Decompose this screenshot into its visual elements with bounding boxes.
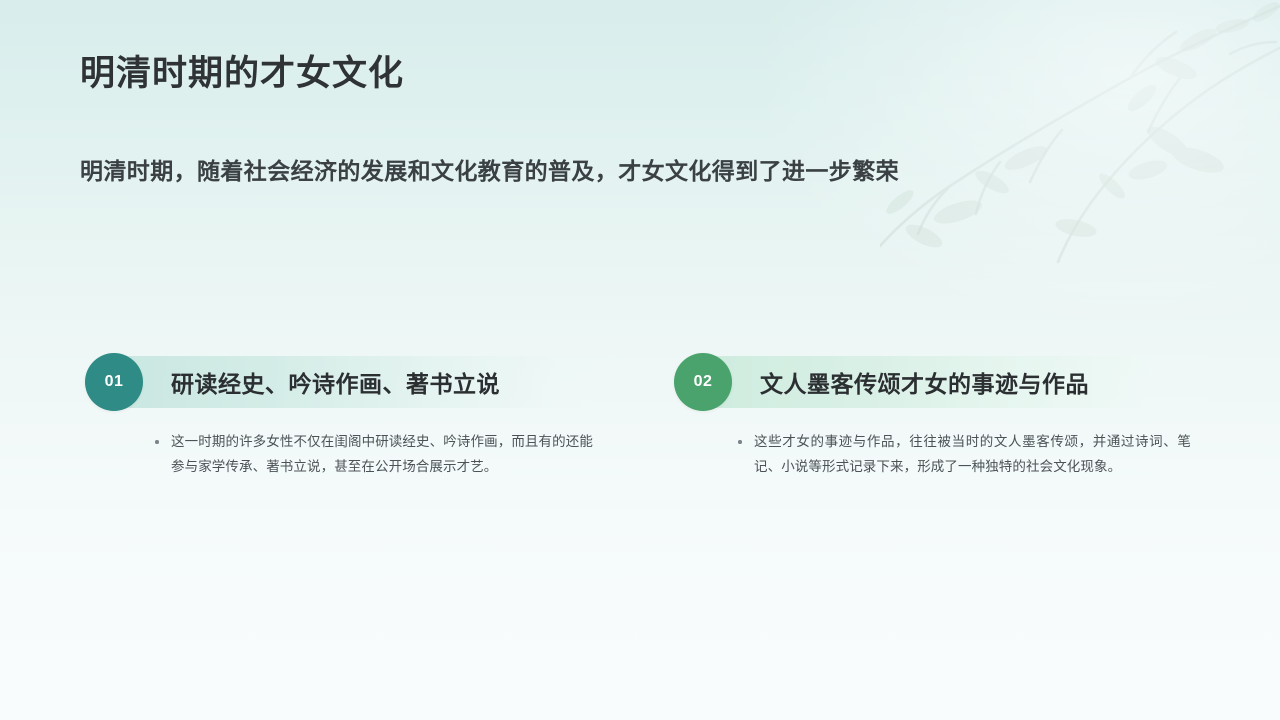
card-header-bar-01[interactable]: 01 研读经史、吟诗作画、著书立说 xyxy=(113,356,621,408)
step-number-badge-02: 02 xyxy=(674,353,732,411)
presentation-slide: 明清时期的才女文化 明清时期，随着社会经济的发展和文化教育的普及，才女文化得到了… xyxy=(0,0,1280,720)
card-heading-01: 研读经史、吟诗作画、著书立说 xyxy=(171,365,500,399)
step-number-badge-01: 01 xyxy=(85,353,143,411)
bullet-list-01: 这一时期的许多女性不仅在闺阁中研读经史、吟诗作画，而且有的还能参与家学传承、著书… xyxy=(153,430,593,479)
page-subtitle: 明清时期，随着社会经济的发展和文化教育的普及，才女文化得到了进一步繁荣 xyxy=(80,155,899,187)
card-header-bar-02[interactable]: 02 文人墨客传颂才女的事迹与作品 xyxy=(702,356,1210,408)
bullet-list-02: 这些才女的事迹与作品，往往被当时的文人墨客传颂，并通过诗词、笔记、小说等形式记录… xyxy=(736,430,1191,479)
list-item: 这些才女的事迹与作品，往往被当时的文人墨客传颂，并通过诗词、笔记、小说等形式记录… xyxy=(736,430,1191,479)
content-column-02: 02 文人墨客传颂才女的事迹与作品 这些才女的事迹与作品，往往被当时的文人墨客传… xyxy=(674,356,1210,479)
content-columns: 01 研读经史、吟诗作画、著书立说 这一时期的许多女性不仅在闺阁中研读经史、吟诗… xyxy=(85,356,1210,479)
card-heading-02: 文人墨客传颂才女的事迹与作品 xyxy=(760,365,1089,399)
content-column-01: 01 研读经史、吟诗作画、著书立说 这一时期的许多女性不仅在闺阁中研读经史、吟诗… xyxy=(85,356,621,479)
branch-leaves-decoration xyxy=(880,0,1280,290)
list-item: 这一时期的许多女性不仅在闺阁中研读经史、吟诗作画，而且有的还能参与家学传承、著书… xyxy=(153,430,593,479)
slide-header: 明清时期的才女文化 明清时期，随着社会经济的发展和文化教育的普及，才女文化得到了… xyxy=(80,52,1210,96)
page-title: 明清时期的才女文化 xyxy=(80,52,1210,96)
